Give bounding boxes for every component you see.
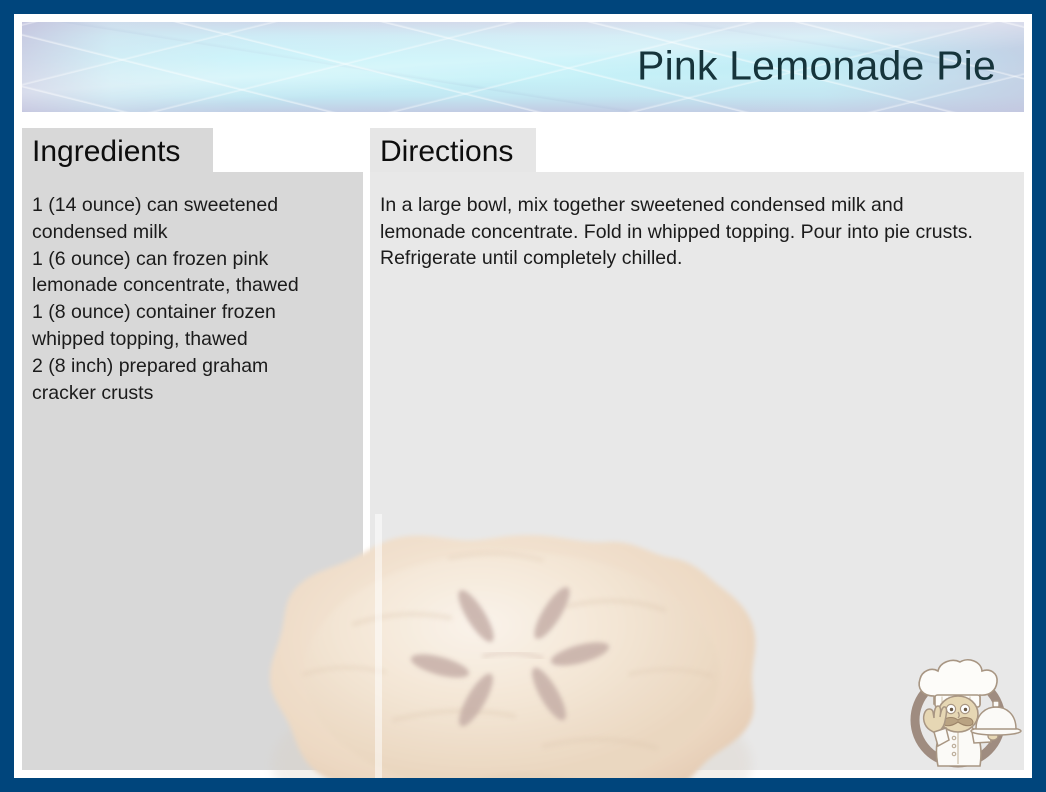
list-item: whipped topping, thawed	[32, 326, 347, 353]
list-item: 1 (8 ounce) container frozen	[32, 299, 347, 326]
list-item: lemonade concentrate, thawed	[32, 272, 347, 299]
list-item: condensed milk	[32, 219, 347, 246]
content-area: Ingredients 1 (14 ounce) can sweetened c…	[22, 124, 1024, 770]
ingredients-panel: Ingredients 1 (14 ounce) can sweetened c…	[22, 124, 363, 770]
ingredients-list: 1 (14 ounce) can sweetened condensed mil…	[22, 172, 363, 770]
recipe-card-page: Pink Lemonade Pie Ingredients 1 (14 ounc…	[0, 0, 1046, 792]
list-item: cracker crusts	[32, 380, 347, 407]
chef-mascot-logo	[894, 648, 1022, 776]
list-item: 1 (6 ounce) can frozen pink	[32, 246, 347, 273]
page-title: Pink Lemonade Pie	[637, 43, 996, 90]
directions-tab-header: Directions	[370, 128, 536, 172]
page-inner-surface: Pink Lemonade Pie Ingredients 1 (14 ounc…	[14, 14, 1032, 778]
list-item: 2 (8 inch) prepared graham	[32, 353, 347, 380]
directions-text: In a large bowl, mix together sweetened …	[380, 192, 980, 272]
list-item: 1 (14 ounce) can sweetened	[32, 192, 347, 219]
ingredients-tab-header: Ingredients	[22, 128, 213, 172]
header-banner: Pink Lemonade Pie	[22, 22, 1024, 112]
chef-logo-illustration	[894, 648, 1022, 776]
